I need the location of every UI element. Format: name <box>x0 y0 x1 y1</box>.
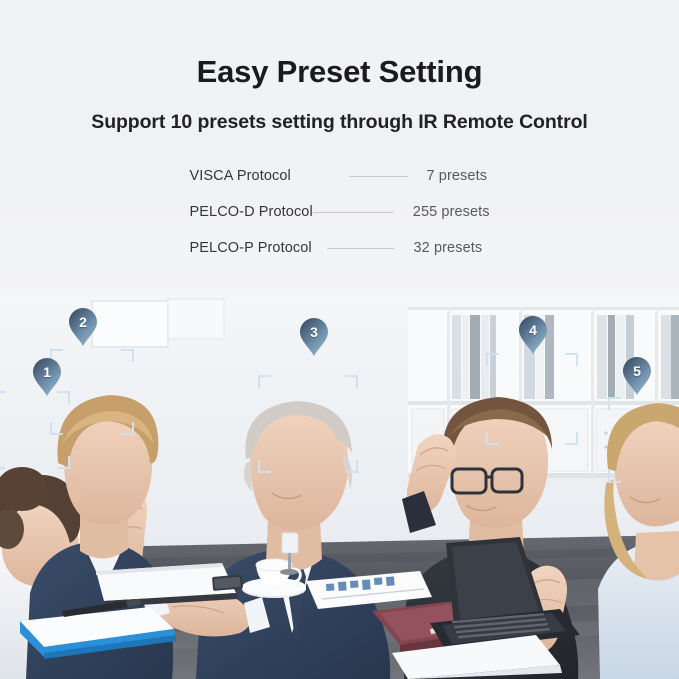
list-item: PELCO-P Protocol 32 presets <box>190 230 490 266</box>
preset-marker-label: 5 <box>622 356 652 386</box>
protocol-preset-count: 7 presets <box>427 168 488 184</box>
protocol-name: PELCO-P Protocol <box>190 240 327 256</box>
preset-marker-5[interactable]: 5 <box>622 356 652 396</box>
bracket-corner-bottom-right <box>565 432 578 445</box>
protocol-preset-count: 255 presets <box>413 204 490 220</box>
bracket-corner-top-left <box>486 353 499 366</box>
protocol-list: VISCA Protocol 7 presets PELCO-D Protoco… <box>0 158 679 266</box>
protocol-name: VISCA Protocol <box>190 168 327 184</box>
meeting-photo: 1 2 <box>0 293 679 679</box>
bracket-corner-bottom-right <box>57 456 70 469</box>
bracket-corner-top-left <box>258 375 271 388</box>
preset-marker-label: 1 <box>32 357 62 387</box>
face-bracket-5 <box>608 397 679 483</box>
bracket-corner-bottom-left <box>608 470 621 483</box>
connector-line <box>327 248 394 249</box>
protocol-name: PELCO-D Protocol <box>190 204 313 220</box>
connector-line <box>349 176 408 177</box>
bracket-corner-bottom-left <box>0 456 5 469</box>
bracket-corner-bottom-right <box>345 460 358 473</box>
bracket-corner-top-right <box>345 375 358 388</box>
preset-marker-label: 2 <box>68 307 98 337</box>
preset-marker-label: 4 <box>518 315 548 345</box>
bracket-corner-bottom-left <box>486 432 499 445</box>
list-item: PELCO-D Protocol 255 presets <box>190 194 490 230</box>
bracket-corner-bottom-left <box>258 460 271 473</box>
connector-line <box>313 212 394 213</box>
bracket-corner-top-left <box>0 391 5 404</box>
bracket-corner-bottom-left <box>50 422 63 435</box>
preset-marker-label: 3 <box>299 317 329 347</box>
preset-marker-3[interactable]: 3 <box>299 317 329 357</box>
list-item: VISCA Protocol 7 presets <box>190 158 490 194</box>
face-bracket-3 <box>258 375 358 473</box>
preset-marker-1[interactable]: 1 <box>32 357 62 397</box>
bracket-corner-top-right <box>121 349 134 362</box>
preset-marker-4[interactable]: 4 <box>518 315 548 355</box>
bracket-corner-bottom-right <box>121 422 134 435</box>
preset-setting-banner: Easy Preset Setting Support 10 presets s… <box>0 0 679 679</box>
page-subtitle: Support 10 presets setting through IR Re… <box>0 111 679 134</box>
face-bracket-4 <box>486 353 578 445</box>
bracket-corner-top-right <box>565 353 578 366</box>
protocol-preset-count: 32 presets <box>414 240 483 256</box>
face-bracket-2 <box>50 349 134 435</box>
preset-marker-2[interactable]: 2 <box>68 307 98 347</box>
info-panel: Easy Preset Setting Support 10 presets s… <box>0 0 679 295</box>
bracket-corner-top-left <box>608 397 621 410</box>
page-title: Easy Preset Setting <box>0 54 679 90</box>
